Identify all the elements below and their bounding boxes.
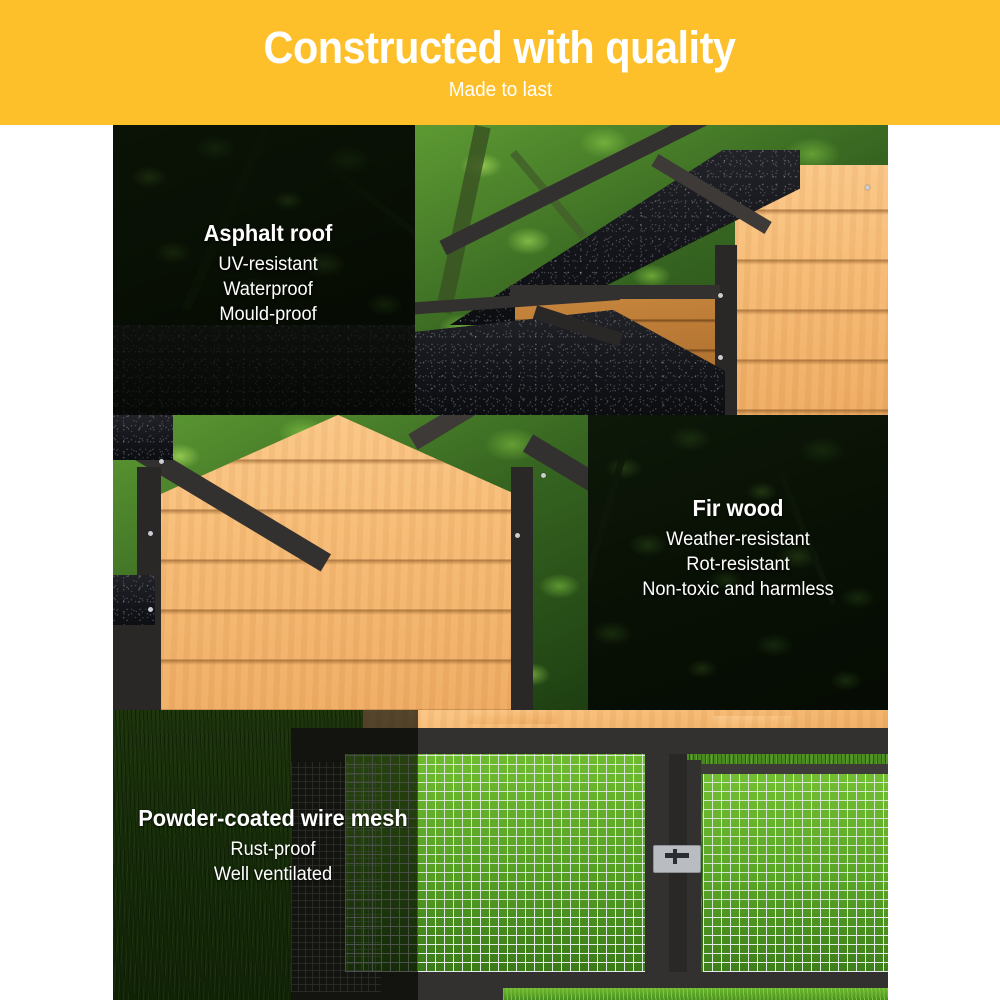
feature-line-well-ventilated: Well ventilated <box>119 863 426 888</box>
feature-caption-wire-mesh: Powder-coated wire mesh Rust-proof Well … <box>113 805 433 888</box>
lower-frame-member <box>113 625 157 710</box>
feature-line-uv-resistant: UV-resistant <box>129 253 407 278</box>
feature-title-wire-mesh: Powder-coated wire mesh <box>121 805 425 831</box>
feature-title-fir-wood: Fir wood <box>600 495 876 521</box>
latch-bolt <box>665 853 689 858</box>
feature-line-mould-proof: Mould-proof <box>129 303 407 328</box>
foreground-grass-strip <box>503 988 888 1000</box>
door-latch[interactable] <box>653 845 701 873</box>
feature-line-rot-resistant: Rot-resistant <box>599 553 877 578</box>
screw-icon <box>865 185 870 190</box>
feature-caption-fir-wood: Fir wood Weather-resistant Rot-resistant… <box>593 495 883 603</box>
header-banner: Constructed with quality Made to last <box>0 0 1000 125</box>
screw-icon <box>159 459 164 464</box>
asphalt-roof-edge <box>113 575 155 630</box>
feature-caption-asphalt-roof: Asphalt roof UV-resistant Waterproof Mou… <box>123 220 413 328</box>
feature-line-non-toxic: Non-toxic and harmless <box>599 578 877 603</box>
feature-line-weather-resistant: Weather-resistant <box>599 528 877 553</box>
photo-foliage-dark-2: Fir wood Weather-resistant Rot-resistant… <box>588 415 888 710</box>
feature-photo-collage: Asphalt roof UV-resistant Waterproof Mou… <box>113 125 888 1000</box>
photo-foliage-dark: Asphalt roof UV-resistant Waterproof Mou… <box>113 125 415 415</box>
screw-icon <box>718 293 723 298</box>
product-feature-infographic: Constructed with quality Made to last As… <box>0 0 1000 1000</box>
screw-icon <box>148 531 153 536</box>
door-rail-top <box>701 764 888 774</box>
feature-title-asphalt-roof: Asphalt roof <box>130 220 406 246</box>
screw-icon <box>515 533 520 538</box>
photo-wire-mesh: Powder-coated wire mesh Rust-proof Well … <box>113 710 888 1000</box>
page-subtitle: Made to last <box>448 80 552 100</box>
photo-roof-closeup <box>415 125 888 415</box>
page-title: Constructed with quality <box>264 25 736 70</box>
feature-line-rust-proof: Rust-proof <box>119 838 426 863</box>
wire-mesh-bottom-right <box>703 908 888 972</box>
corner-post-right <box>511 467 533 710</box>
screw-icon <box>718 355 723 360</box>
photo-gable-wall <box>113 415 588 710</box>
screw-icon <box>541 473 546 478</box>
screw-icon <box>148 607 153 612</box>
fir-wood-rail-block <box>468 710 558 724</box>
latch-pin <box>673 849 677 864</box>
feature-line-waterproof: Waterproof <box>129 278 407 303</box>
asphalt-roof-edge <box>113 415 173 460</box>
